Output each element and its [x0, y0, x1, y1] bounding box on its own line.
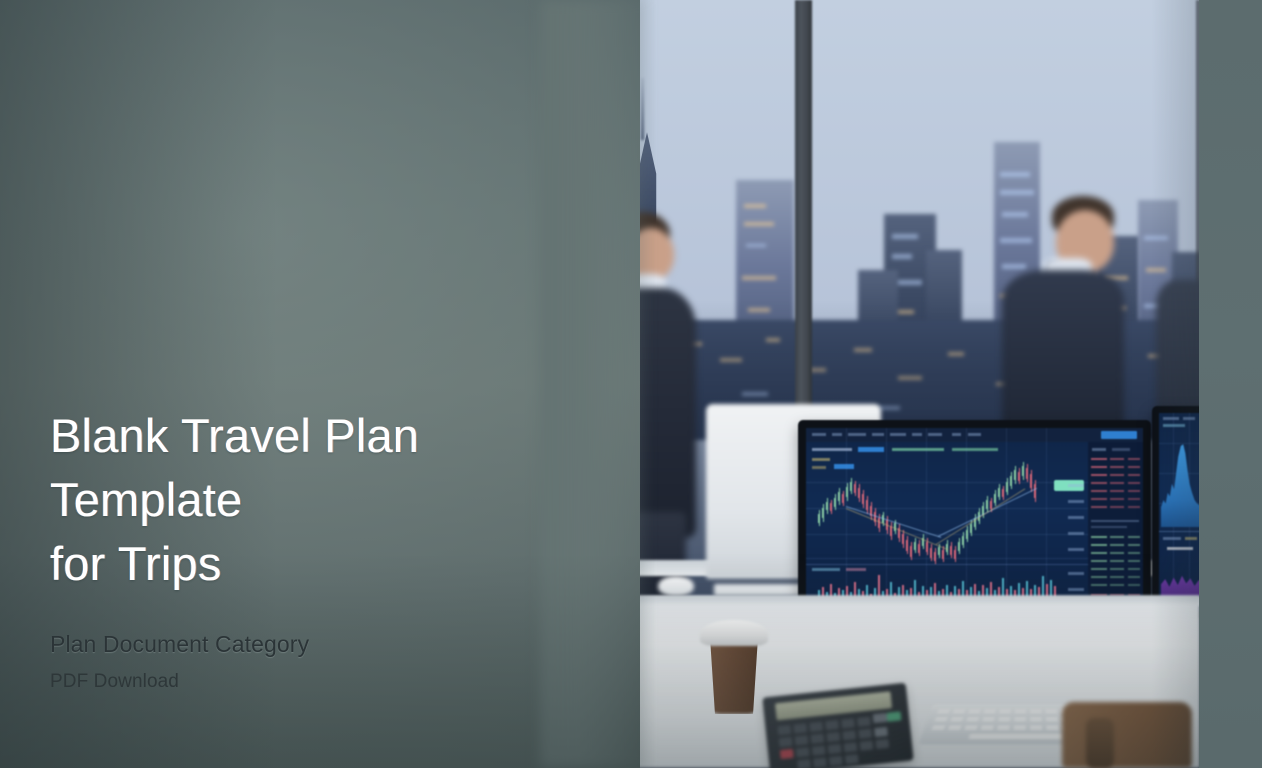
trading-terminal-screen [806, 428, 1143, 619]
monitor-secondary[interactable] [1152, 406, 1200, 618]
terminal-toolbar[interactable] [806, 428, 1143, 442]
text-block: Blank Travel Plan Template for Trips Pla… [50, 404, 610, 695]
moving-average-slow [846, 508, 948, 550]
order-book-panel[interactable] [1088, 442, 1143, 605]
moving-average-slow-2 [936, 488, 1026, 544]
secondary-area-series [1161, 437, 1200, 527]
page-title-line-2: for Trips [50, 537, 222, 590]
mouse [658, 576, 694, 596]
secondary-lower-band [1161, 559, 1200, 601]
page-title: Blank Travel Plan Template for Trips [50, 404, 610, 596]
page-title-line-1: Blank Travel Plan Template [50, 409, 419, 526]
secondary-chart-screen [1159, 413, 1200, 611]
background-photo [596, 0, 1200, 768]
document-category: Plan Document Category [50, 629, 610, 659]
right-wall-band [1199, 0, 1262, 768]
businessman-right [994, 196, 1154, 456]
slide-canvas: Blank Travel Plan Template for Trips Pla… [0, 0, 1262, 768]
desk-front-edge [596, 596, 1200, 606]
download-label[interactable]: PDF Download [50, 669, 610, 695]
office-chair [1062, 702, 1192, 768]
office-chair-arm [1086, 718, 1114, 768]
window-mullion-left [795, 0, 812, 420]
calculator [762, 683, 913, 768]
